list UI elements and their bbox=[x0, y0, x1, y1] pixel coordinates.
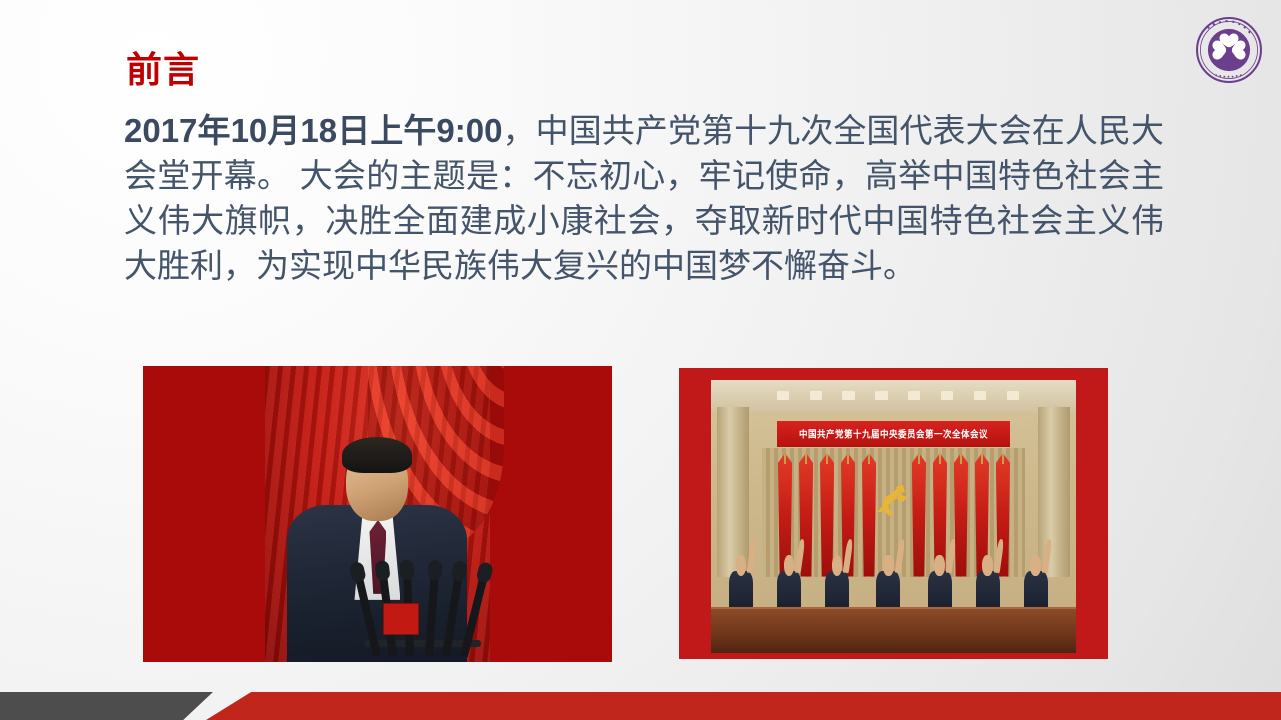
photo2-hall-interior: 中国共产党第十九届中央委员会第一次全体会议 bbox=[711, 380, 1076, 654]
photo2-meeting-banner: 中国共产党第十九届中央委员会第一次全体会议 bbox=[777, 421, 1010, 447]
footer-gray-segment bbox=[0, 692, 213, 720]
presentation-slide: 前言 2017年10月18日上午9:00，中国共产党第十九次全国代表大会在人民大… bbox=[0, 0, 1281, 720]
footer-red-segment bbox=[206, 692, 1281, 720]
photo1-speaker-hair bbox=[342, 437, 412, 473]
body-lead-datetime: 2017年10月18日上午9:00 bbox=[124, 112, 502, 149]
photo2-presidium-table bbox=[711, 607, 1076, 653]
photo-speaker-at-rostrum bbox=[143, 366, 612, 662]
photo1-curtain-backdrop bbox=[265, 366, 490, 662]
party-emblem-icon bbox=[865, 478, 921, 528]
body-paragraph: 2017年10月18日上午9:00，中国共产党第十九次全国代表大会在人民大会堂开… bbox=[124, 108, 1164, 288]
photo-plenary-session: 中国共产党第十九届中央委员会第一次全体会议 bbox=[679, 368, 1108, 659]
university-seal-logo bbox=[1195, 16, 1263, 84]
page-title: 前言 bbox=[126, 50, 200, 90]
photo1-red-nameplate bbox=[383, 603, 419, 635]
photo2-banner-text: 中国共产党第十九届中央委员会第一次全体会议 bbox=[799, 427, 988, 440]
photo2-ceiling-lights bbox=[711, 380, 1076, 413]
footer-decoration-bar bbox=[0, 692, 1281, 720]
